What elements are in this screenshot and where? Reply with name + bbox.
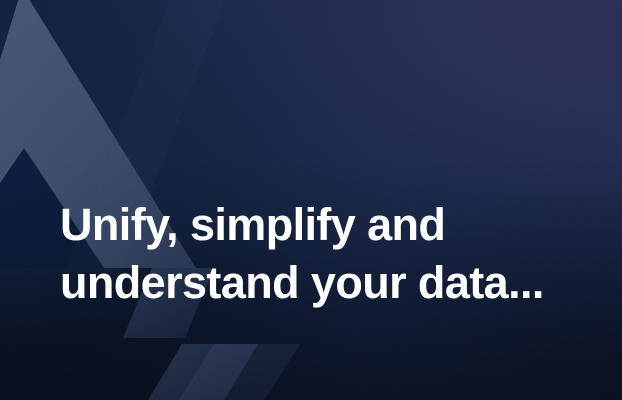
- diagonal-stripe-lower: [136, 344, 300, 400]
- headline: Unify, simplify and understand your data…: [60, 196, 600, 312]
- headline-line-1: Unify, simplify and: [60, 196, 600, 254]
- headline-line-2: understand your data...: [60, 254, 600, 312]
- slide-canvas: Unify, simplify and understand your data…: [0, 0, 622, 400]
